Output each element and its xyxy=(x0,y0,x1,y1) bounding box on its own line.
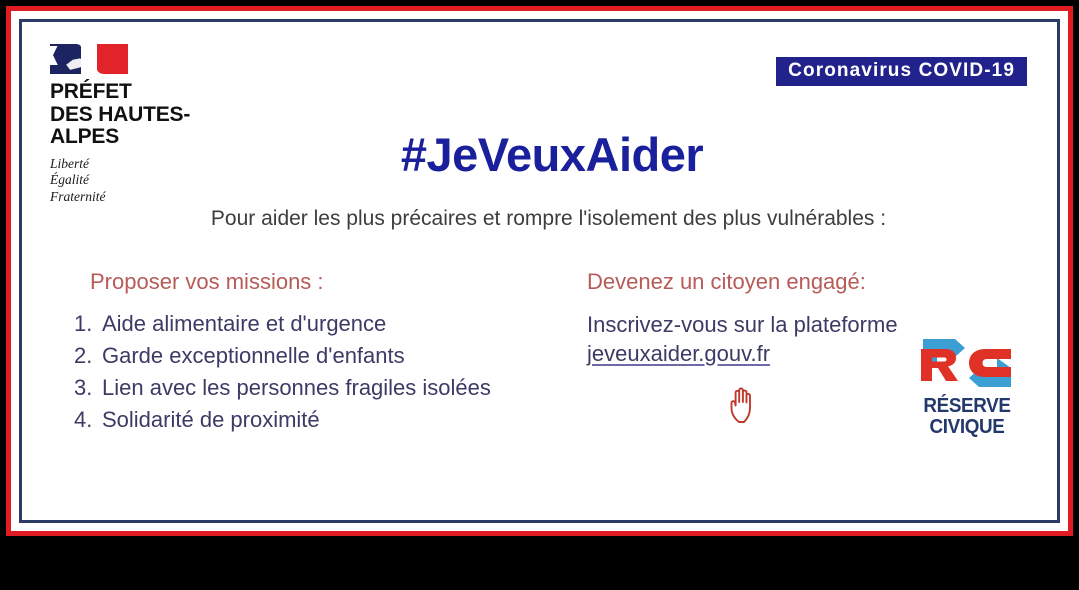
institution-line-2: DES HAUTES- xyxy=(50,104,280,127)
list-item: Aide alimentaire et d'urgence xyxy=(74,308,567,340)
reserve-civique-logo: RÉSERVE CIVIQUE xyxy=(915,335,1019,438)
motto-fraternite: Fraternité xyxy=(50,189,280,205)
page-subtitle: Pour aider les plus précaires et rompre … xyxy=(22,207,1057,231)
rc-monogram-icon xyxy=(915,335,1019,393)
wordmark-line-1: RÉSERVE xyxy=(919,395,1015,417)
list-item: Garde exceptionnelle d'enfants xyxy=(74,340,567,372)
page-title: #JeVeuxAider xyxy=(22,127,1057,182)
missions-list: Aide alimentaire et d'urgence Garde exce… xyxy=(74,308,567,436)
list-item: Solidarité de proximité xyxy=(74,404,567,436)
reserve-civique-wordmark: RÉSERVE CIVIQUE xyxy=(919,395,1015,438)
marianne-flag-icon xyxy=(50,44,128,74)
screen-letterbox: PRÉFET DES HAUTES- ALPES Liberté Égalité… xyxy=(0,0,1079,590)
flag-white-band xyxy=(81,44,97,74)
covid-banner: Coronavirus COVID-19 xyxy=(776,57,1027,86)
platform-link[interactable]: jeveuxaider.gouv.fr xyxy=(587,341,770,367)
content-columns: Proposer vos missions : Aide alimentaire… xyxy=(22,269,1057,436)
list-item: Lien avec les personnes fragiles isolées xyxy=(74,372,567,404)
missions-column: Proposer vos missions : Aide alimentaire… xyxy=(22,269,567,436)
wordmark-line-2: CIVIQUE xyxy=(919,416,1015,438)
pointing-hand-cursor-icon xyxy=(727,384,761,424)
institution-line-1: PRÉFET xyxy=(50,81,280,104)
blue-border-frame: PRÉFET DES HAUTES- ALPES Liberté Égalité… xyxy=(19,19,1060,523)
missions-heading: Proposer vos missions : xyxy=(74,269,567,295)
red-border-frame: PRÉFET DES HAUTES- ALPES Liberté Égalité… xyxy=(6,6,1073,536)
flag-red-band xyxy=(97,44,128,74)
signup-heading: Devenez un citoyen engagé: xyxy=(587,269,1047,295)
